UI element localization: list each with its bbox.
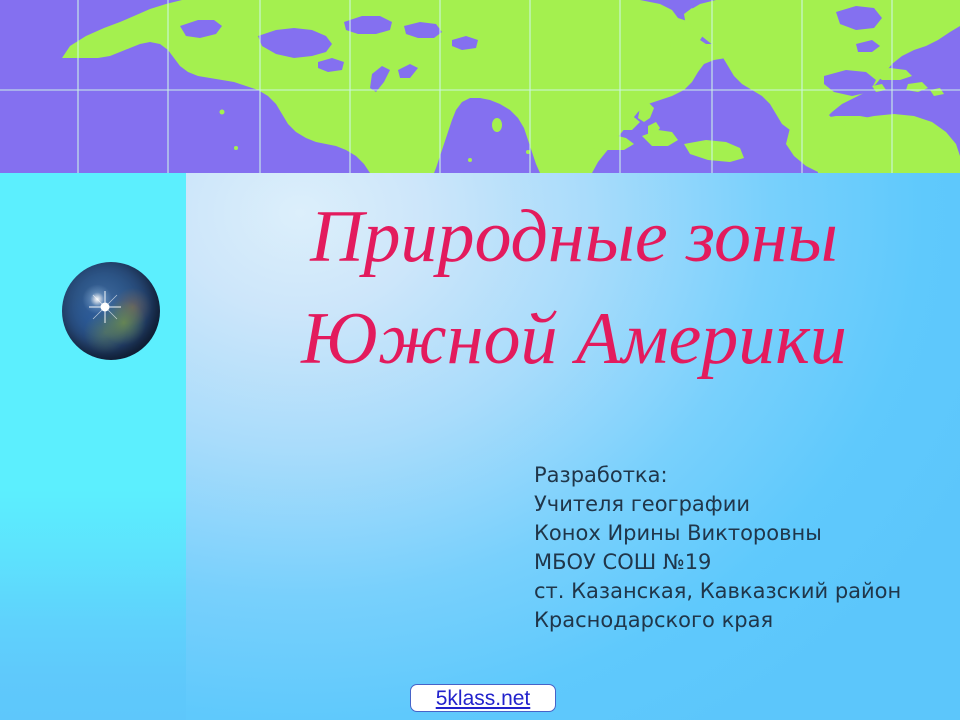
- credit-line: Краснодарского края: [534, 606, 901, 635]
- world-map-svg: [0, 0, 960, 173]
- author-credits-block: Разработка: Учителя географии Конох Ирин…: [534, 461, 901, 635]
- world-map-banner: [0, 0, 960, 173]
- slide-title: Природные зоны Южной Америки: [190, 186, 958, 390]
- title-line-1: Природные зоны: [190, 186, 958, 288]
- title-line-2: Южной Америки: [190, 288, 958, 390]
- credit-line: Конох Ирины Викторовны: [534, 519, 901, 548]
- credit-line: Разработка:: [534, 461, 901, 490]
- watermark-link[interactable]: 5klass.net: [436, 688, 531, 709]
- credit-line: Учителя географии: [534, 490, 901, 519]
- title-slide: Природные зоны Южной Америки Разработка:…: [0, 0, 960, 720]
- island-dot-2: [526, 150, 530, 154]
- island-dot-1: [566, 98, 570, 102]
- island-dot-6: [588, 84, 593, 89]
- island-dot-4: [220, 110, 225, 115]
- watermark-badge[interactable]: 5klass.net: [410, 684, 556, 712]
- island-dot-3: [468, 158, 472, 162]
- credit-line: ст. Казанская, Кавказский район: [534, 577, 901, 606]
- island-dot-5: [234, 146, 238, 150]
- land-sri-lanka: [492, 118, 502, 132]
- globe-light-flare-icon: [88, 290, 122, 324]
- left-cyan-band: [0, 173, 186, 720]
- earth-globe-image: [62, 262, 160, 360]
- credit-line: МБОУ СОШ №19: [534, 548, 901, 577]
